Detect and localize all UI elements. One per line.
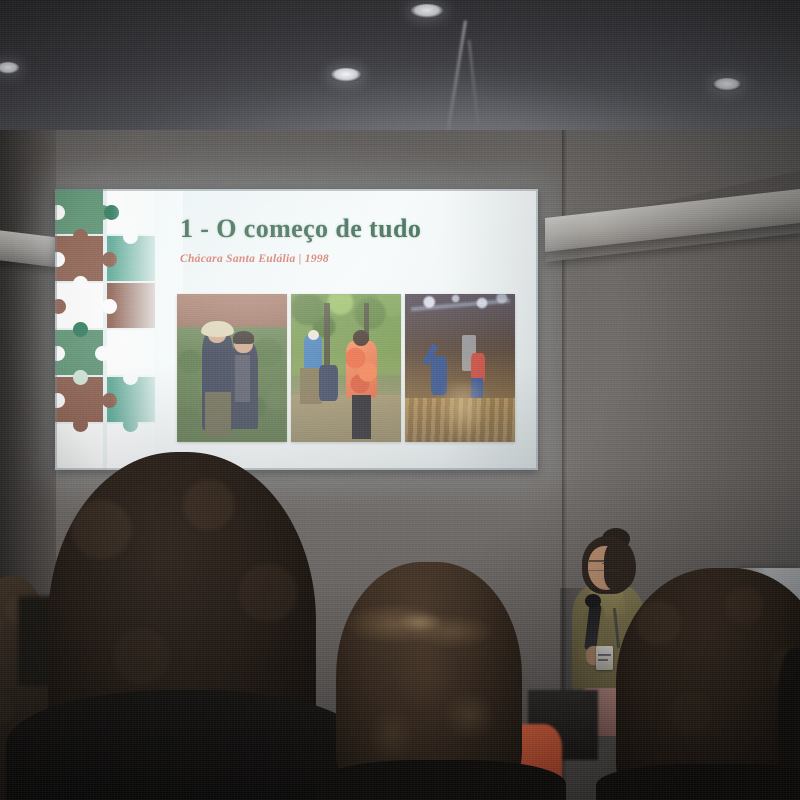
microphone-head-icon bbox=[585, 594, 601, 608]
puzzle-piece bbox=[107, 236, 155, 281]
puzzle-piece bbox=[55, 424, 103, 469]
puzzle-piece bbox=[55, 189, 103, 234]
audience-left-shoulders bbox=[6, 690, 366, 800]
puzzle-piece bbox=[55, 236, 103, 281]
presentation-room-photo: 1 - O começo de tudo Chácara Santa Eulál… bbox=[0, 0, 800, 800]
puzzle-decoration bbox=[55, 189, 167, 470]
puzzle-piece bbox=[107, 283, 155, 328]
slide-photo-grove bbox=[291, 294, 401, 442]
glasses-icon bbox=[589, 560, 619, 571]
downlight-icon-2 bbox=[330, 68, 362, 82]
puzzle-piece bbox=[107, 189, 155, 234]
puzzle-piece bbox=[107, 377, 155, 422]
puzzle-piece bbox=[107, 330, 155, 375]
projection-screen[interactable]: 1 - O começo de tudo Chácara Santa Eulál… bbox=[55, 189, 538, 470]
downlight-icon-1 bbox=[410, 4, 444, 18]
presenter-id-badge bbox=[596, 646, 613, 670]
badge-line bbox=[598, 659, 608, 661]
badge-line bbox=[598, 654, 611, 656]
slide-title: 1 - O começo de tudo bbox=[180, 214, 421, 244]
slide-subtitle: Chácara Santa Eulália | 1998 bbox=[180, 253, 329, 265]
photo1-projection-haze bbox=[177, 294, 287, 442]
audience-center-shoulders bbox=[316, 760, 566, 800]
puzzle-piece bbox=[55, 330, 103, 375]
downlight-icon-4 bbox=[712, 78, 742, 91]
audience-right-shoulders bbox=[596, 764, 800, 800]
photo3-projection-haze bbox=[405, 294, 515, 442]
audience-hair-clip bbox=[398, 612, 442, 632]
slide-canvas: 1 - O começo de tudo Chácara Santa Eulál… bbox=[55, 189, 538, 470]
audience-head-edge bbox=[778, 648, 800, 768]
slide-photo-couple bbox=[177, 294, 287, 442]
puzzle-piece bbox=[55, 377, 103, 422]
photo2-projection-haze bbox=[291, 294, 401, 442]
slide-photo-indoor bbox=[405, 294, 515, 442]
